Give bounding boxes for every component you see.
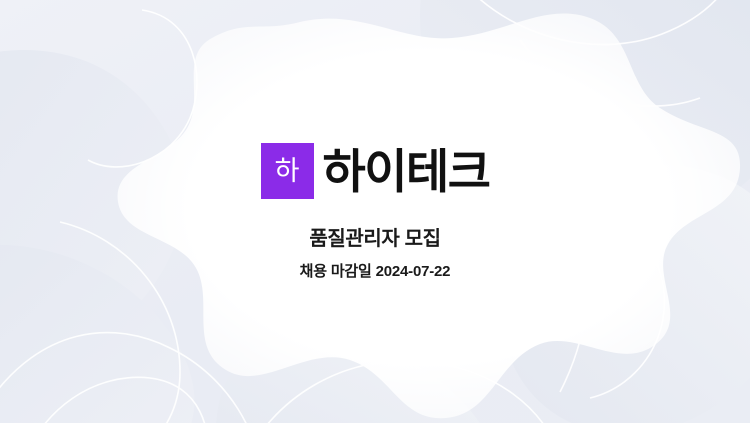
logo-mark-icon: 하 bbox=[261, 143, 314, 199]
company-wordmark: 하이테크 bbox=[323, 148, 490, 195]
recruitment-poster: 하 하이테크 품질관리자 모집 채용 마감일 2024-07-22 bbox=[0, 0, 750, 423]
poster-content: 하 하이테크 품질관리자 모집 채용 마감일 2024-07-22 bbox=[0, 0, 750, 423]
job-headline: 품질관리자 모집 bbox=[309, 228, 440, 250]
application-deadline: 채용 마감일 2024-07-22 bbox=[300, 264, 451, 281]
company-logo: 하 하이테크 bbox=[261, 142, 490, 200]
